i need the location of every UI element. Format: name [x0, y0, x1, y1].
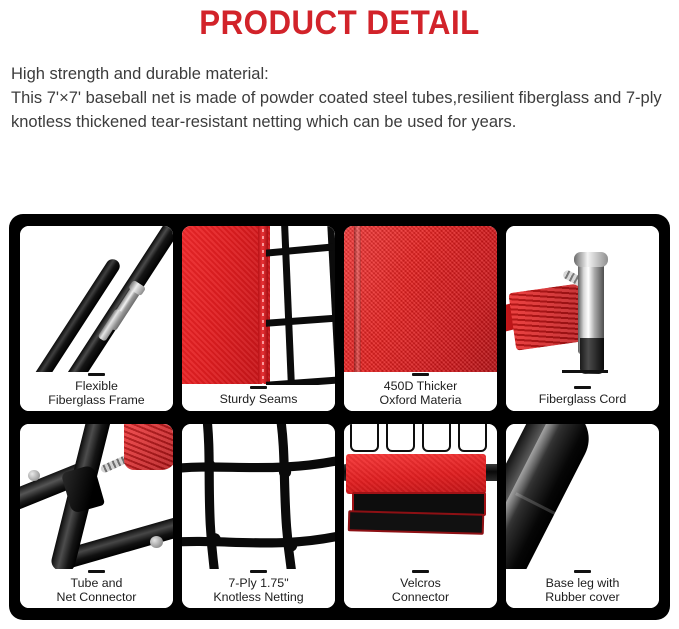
oxford-fabric-texture-icon	[344, 226, 497, 372]
stitch-line-icon	[262, 226, 264, 384]
photo-450d-oxford-material	[344, 226, 497, 372]
photo-base-leg-rubber-cover	[506, 424, 659, 570]
caption-line-1: 7-Ply 1.75"	[184, 576, 333, 590]
caption-line-1: Sturdy Seams	[184, 392, 333, 406]
caption-line-2: Connector	[346, 590, 495, 604]
red-fabric-panel-icon	[182, 226, 270, 384]
net-loop-icon	[350, 424, 379, 452]
caption-line-2: Net Connector	[22, 590, 171, 604]
intro-text-block: High strength and durable material: This…	[11, 62, 667, 134]
feature-cell-450d-oxford-material[interactable]: 450D Thicker Oxford Materia	[344, 226, 497, 411]
fabric-fold-icon	[354, 226, 361, 372]
feature-cell-sturdy-seams[interactable]: Sturdy Seams	[182, 226, 335, 411]
feature-cell-velcros-connector[interactable]: Velcros Connector	[344, 424, 497, 609]
dash-separator-icon	[250, 386, 267, 389]
chrome-cap-icon	[574, 252, 608, 267]
caption-line-2: Rubber cover	[508, 590, 657, 604]
feature-panel: Flexible Fiberglass Frame	[9, 214, 670, 620]
dash-separator-icon	[574, 386, 591, 389]
caption-tube-and-net-connector: Tube and Net Connector	[20, 569, 173, 608]
ground-shadow-icon	[562, 370, 608, 373]
caption-line-2: Fiberglass Frame	[22, 393, 171, 407]
dash-separator-icon	[88, 373, 105, 376]
caption-base-leg-rubber-cover: Base leg with Rubber cover	[506, 569, 659, 608]
feature-cell-knotless-netting[interactable]: 7-Ply 1.75" Knotless Netting	[182, 424, 335, 609]
photo-fiberglass-cord	[506, 226, 659, 385]
photo-sturdy-seams	[182, 226, 335, 385]
net-loop-icon	[386, 424, 415, 452]
tube-end-cap-icon	[28, 470, 40, 481]
feature-cell-flexible-fiberglass-frame[interactable]: Flexible Fiberglass Frame	[20, 226, 173, 411]
caption-line-1: Fiberglass Cord	[508, 392, 657, 406]
dash-separator-icon	[412, 570, 429, 573]
caption-line-1: Tube and	[22, 576, 171, 590]
photo-velcros-connector	[344, 424, 497, 570]
feature-cell-base-leg-rubber-cover[interactable]: Base leg with Rubber cover	[506, 424, 659, 609]
intro-heading-line: High strength and durable material:	[11, 62, 667, 86]
intro-body-text: This 7'×7' baseball net is made of powde…	[11, 86, 667, 134]
velcro-strip-lower-icon	[348, 510, 485, 535]
net-loop-icon	[422, 424, 451, 452]
photo-knotless-netting	[182, 424, 335, 570]
feature-grid: Flexible Fiberglass Frame	[20, 226, 659, 608]
red-velcro-flap-icon	[346, 454, 486, 494]
dash-separator-icon	[412, 373, 429, 376]
caption-450d-oxford-material: 450D Thicker Oxford Materia	[344, 372, 497, 411]
photo-tube-and-net-connector	[20, 424, 173, 570]
caption-knotless-netting: 7-Ply 1.75" Knotless Netting	[182, 569, 335, 608]
tube-end-cap-secondary-icon	[150, 536, 163, 548]
black-pole-tip-icon	[580, 338, 604, 374]
red-cord-icon	[124, 424, 173, 470]
photo-flexible-fiberglass-frame	[20, 226, 173, 372]
caption-line-1: Velcros	[346, 576, 495, 590]
page-title: PRODUCT DETAIL	[27, 2, 652, 44]
caption-line-1: 450D Thicker	[346, 379, 495, 393]
caption-sturdy-seams: Sturdy Seams	[182, 385, 335, 411]
knotless-net-mesh-icon	[182, 424, 335, 570]
caption-line-2: Oxford Materia	[346, 393, 495, 407]
feature-cell-tube-and-net-connector[interactable]: Tube and Net Connector	[20, 424, 173, 609]
dash-separator-icon	[250, 570, 267, 573]
caption-line-1: Base leg with	[508, 576, 657, 590]
caption-line-2: Knotless Netting	[184, 590, 333, 604]
dash-separator-icon	[574, 570, 591, 573]
caption-line-1: Flexible	[22, 379, 171, 393]
net-loop-icon	[458, 424, 487, 452]
dash-separator-icon	[88, 570, 105, 573]
caption-velcros-connector: Velcros Connector	[344, 569, 497, 608]
feature-cell-fiberglass-cord[interactable]: Fiberglass Cord	[506, 226, 659, 411]
caption-flexible-fiberglass-frame: Flexible Fiberglass Frame	[20, 372, 173, 411]
red-cord-wrap-icon	[508, 283, 587, 350]
caption-fiberglass-cord: Fiberglass Cord	[506, 385, 659, 411]
net-mesh-icon	[266, 226, 335, 385]
